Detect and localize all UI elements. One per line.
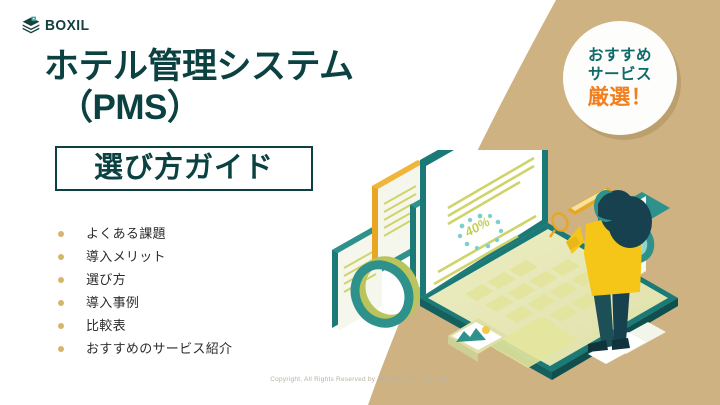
- list-item: 選び方: [58, 268, 232, 291]
- isometric-laptop-analytics-illustration: 40%: [330, 150, 720, 385]
- bullet-dot-icon: [58, 254, 64, 260]
- bullet-dot-icon: [58, 323, 64, 329]
- brand-name: BOXIL: [45, 18, 89, 33]
- page-title-line1: ホテル管理システム: [44, 46, 484, 87]
- status-badge: おすすめ サービス 厳選！: [563, 21, 677, 135]
- page-title: ホテル管理システム （PMS）: [44, 46, 484, 129]
- guide-label-box: 選び方ガイド: [55, 146, 313, 191]
- badge-line1: おすすめ: [588, 46, 652, 65]
- bullet-dot-icon: [58, 346, 64, 352]
- badge-line2: サービス: [588, 65, 652, 84]
- agenda-item-label: 選び方: [86, 273, 126, 286]
- agenda-item-label: よくある課題: [86, 227, 166, 240]
- bullet-dot-icon: [58, 277, 64, 283]
- agenda-list: よくある課題 導入メリット 選び方 導入事例 比較表 おすすめのサービス紹介: [58, 222, 232, 360]
- agenda-item-label: おすすめのサービス紹介: [86, 342, 232, 355]
- list-item: 導入事例: [58, 291, 232, 314]
- page-title-line2: （PMS）: [58, 87, 484, 128]
- agenda-item-label: 導入メリット: [86, 250, 166, 263]
- bullet-dot-icon: [58, 300, 64, 306]
- list-item: よくある課題: [58, 222, 232, 245]
- guide-label-text: 選び方ガイド: [94, 154, 274, 183]
- list-item: 比較表: [58, 314, 232, 337]
- badge-circle: おすすめ サービス 厳選！: [563, 21, 677, 135]
- stacked-layers-icon: [21, 15, 41, 35]
- badge-line3: 厳選！: [588, 85, 653, 110]
- list-item: おすすめのサービス紹介: [58, 337, 232, 360]
- slide-canvas: BOXIL ホテル管理システム （PMS） 選び方ガイド よくある課題 導入メリ…: [0, 0, 720, 405]
- agenda-item-label: 比較表: [86, 319, 126, 332]
- copyright-footer: Copyright, All Rights Reserved by SMARTC…: [0, 376, 720, 383]
- brand-logo[interactable]: BOXIL: [21, 15, 93, 35]
- bullet-dot-icon: [58, 231, 64, 237]
- list-item: 導入メリット: [58, 245, 232, 268]
- agenda-item-label: 導入事例: [86, 296, 139, 309]
